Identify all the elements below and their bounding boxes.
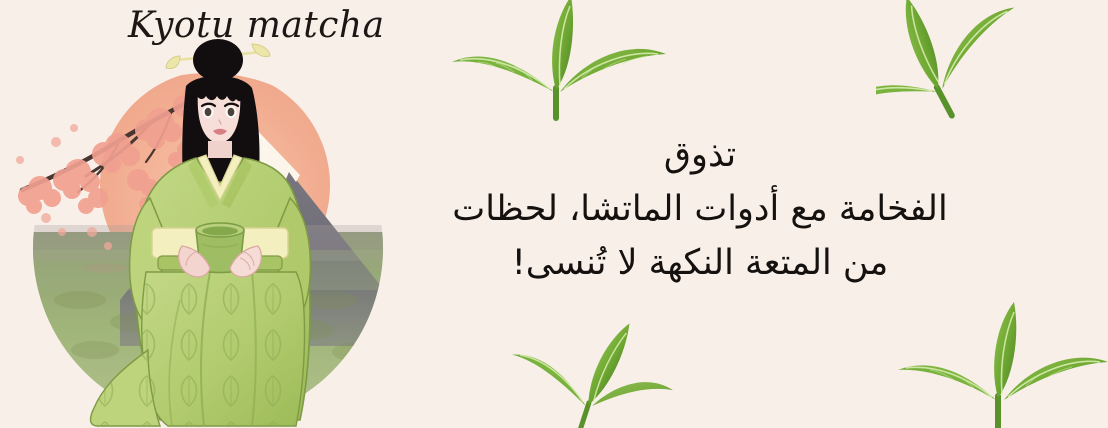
tea-leaf-sprig-bottom-center	[488, 308, 674, 428]
brand-logo: Kyotu matcha	[128, 2, 378, 52]
leaf-left	[452, 57, 554, 92]
tea-leaf-sprig-bottom-right	[878, 300, 1108, 428]
headline-line-2: الفخامة مع أدوات الماتشا، لحظات	[420, 182, 980, 236]
headline-line-1: تذوق	[420, 128, 980, 182]
headline-line-3: من المتعة النكهة لا تُنسى!	[420, 236, 980, 290]
headline-block: تذوق الفخامة مع أدوات الماتشا، لحظات من …	[420, 128, 980, 290]
kimono-woman-illustration	[0, 0, 420, 428]
leaf-center	[552, 0, 573, 90]
tea-leaf-sprig-top-center	[430, 0, 680, 124]
tea-leaf-sprig-top-right	[876, 0, 1108, 130]
leaf-right	[560, 49, 666, 92]
promo-banner: Kyotu matcha تذوق الفخامة مع أدوات المات…	[0, 0, 1108, 428]
